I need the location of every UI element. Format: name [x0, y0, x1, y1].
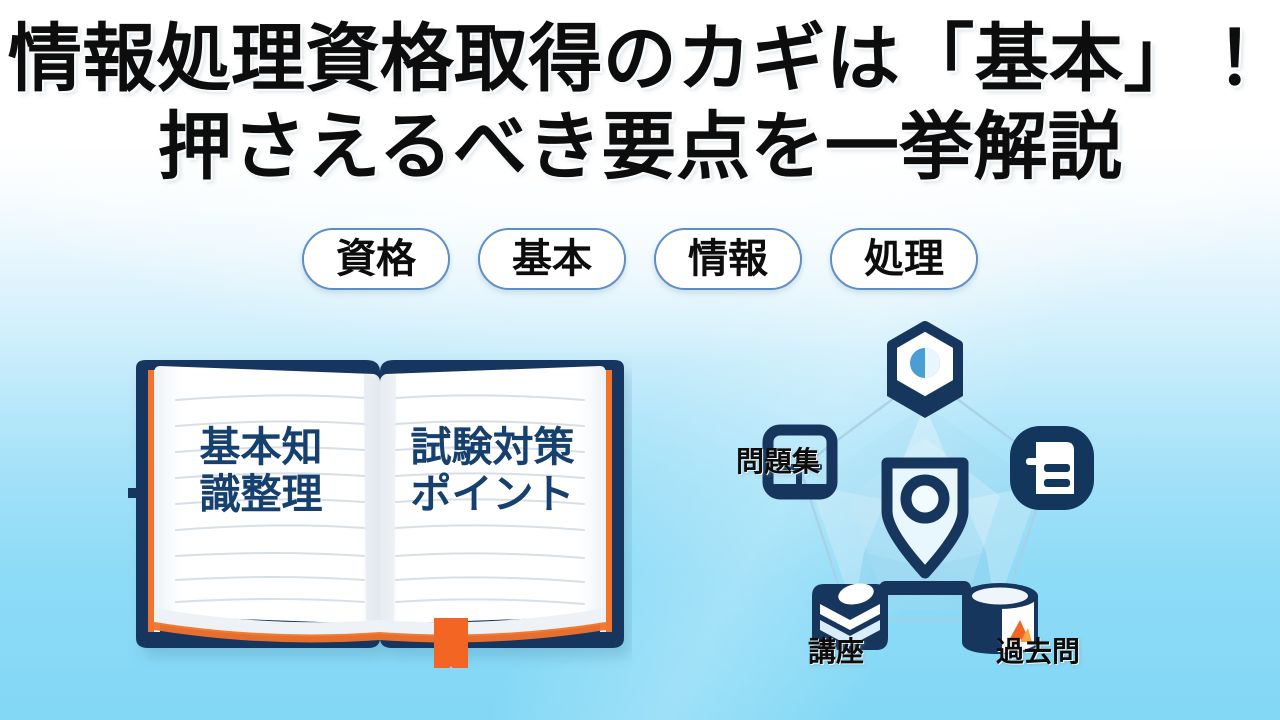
tag-pill-label: 基本: [512, 239, 592, 279]
tag-pill-shori[interactable]: 処理: [830, 228, 978, 290]
book-tab: [128, 488, 142, 498]
tag-pill-jouhou[interactable]: 情報: [654, 228, 802, 290]
tag-pill-label: 資格: [336, 239, 416, 279]
book-left-page-text: 基本知 識整理: [166, 424, 356, 517]
book-right-page-text: 試験対策 ポイント: [390, 424, 595, 517]
title-line-1: 情報処理資格取得のカギは「基本」！: [0, 22, 1280, 96]
open-book-illustration: 基本知 識整理 試験対策 ポイント: [128, 352, 632, 668]
tag-pill-shikaku[interactable]: 資格: [302, 228, 450, 290]
title-line-2: 押さえるべき要点を一挙解説: [0, 110, 1280, 184]
title-block: 情報処理資格取得のカギは「基本」！ 押さえるべき要点を一挙解説: [0, 22, 1280, 184]
slide-canvas: 情報処理資格取得のカギは「基本」！ 押さえるべき要点を一挙解説 資格 基本 情報…: [0, 0, 1280, 720]
radar-node-label-course: 講座: [808, 638, 864, 666]
tag-pill-kihon[interactable]: 基本: [478, 228, 626, 290]
tag-pill-label: 情報: [688, 239, 768, 279]
radar-node-label-problems: 問題集: [736, 448, 820, 476]
cube-hexagon-icon: [887, 326, 963, 418]
radar-node-label-past-exams: 過去問: [996, 638, 1080, 666]
tag-pill-row: 資格 基本 情報 処理: [0, 228, 1280, 290]
tag-pill-label: 処理: [864, 239, 944, 279]
document-list-icon: [1010, 426, 1094, 510]
radar-diagram: 問題集 講座 過去問: [700, 320, 1150, 710]
page-edge-left: [148, 370, 155, 632]
bookmark-ribbon: [434, 618, 468, 668]
page-edge-right: [605, 370, 612, 632]
